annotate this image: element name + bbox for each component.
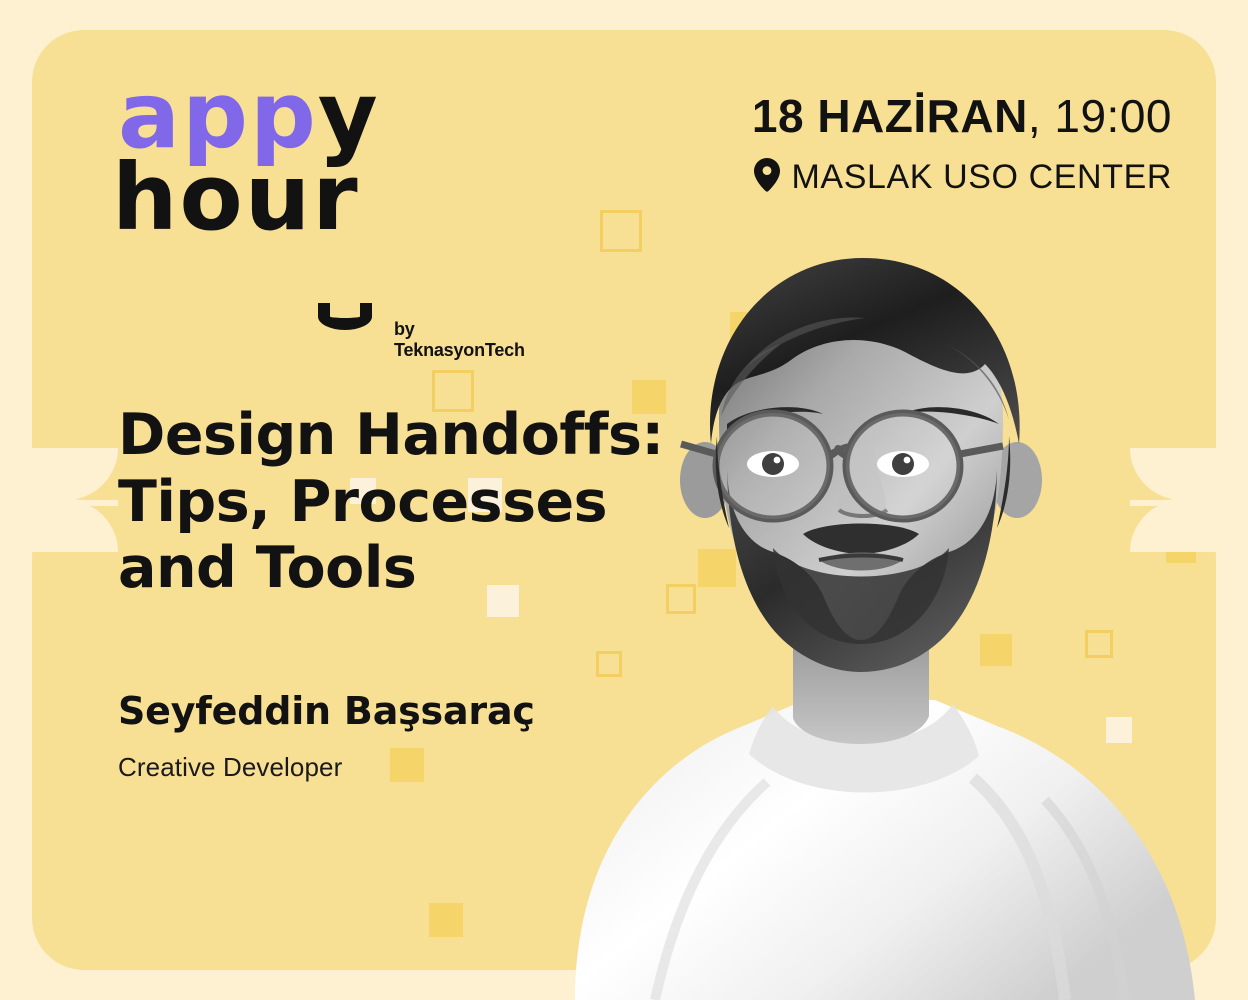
logo-wordmark-hour: hour [112,158,360,237]
event-venue: MASLAK USO CENTER [752,158,1172,197]
decor-square [758,310,784,336]
decor-square [600,210,642,252]
talk-title: Design Handoffs: Tips, Processes and Too… [118,402,718,602]
event-time-separator: , [1028,90,1055,142]
event-date: 18 HAZİRAN [752,90,1028,142]
event-meta: 18 HAZİRAN, 19:00 MASLAK USO CENTER [752,92,1172,197]
venue-name: MASLAK USO CENTER [792,158,1173,197]
location-pin-icon [754,158,780,197]
decor-square [1106,717,1132,743]
smile-icon [318,303,372,330]
speaker-name: Seyfeddin Başsaraç [118,689,535,733]
decor-square [980,634,1012,666]
decor-square [596,651,622,677]
speaker-role: Creative Developer [118,752,342,783]
event-time: 19:00 [1054,90,1172,142]
event-poster: appy hour by TeknasyonTech 18 HAZİRAN, 1… [0,0,1248,1000]
logo-byline: by TeknasyonTech [394,319,525,361]
event-datetime: 18 HAZİRAN, 19:00 [752,92,1172,140]
decor-square [730,312,758,340]
appy-hour-logo: appy hour by TeknasyonTech [112,76,442,266]
decor-square [390,748,424,782]
decor-square [1085,630,1113,658]
decor-square [429,903,463,937]
